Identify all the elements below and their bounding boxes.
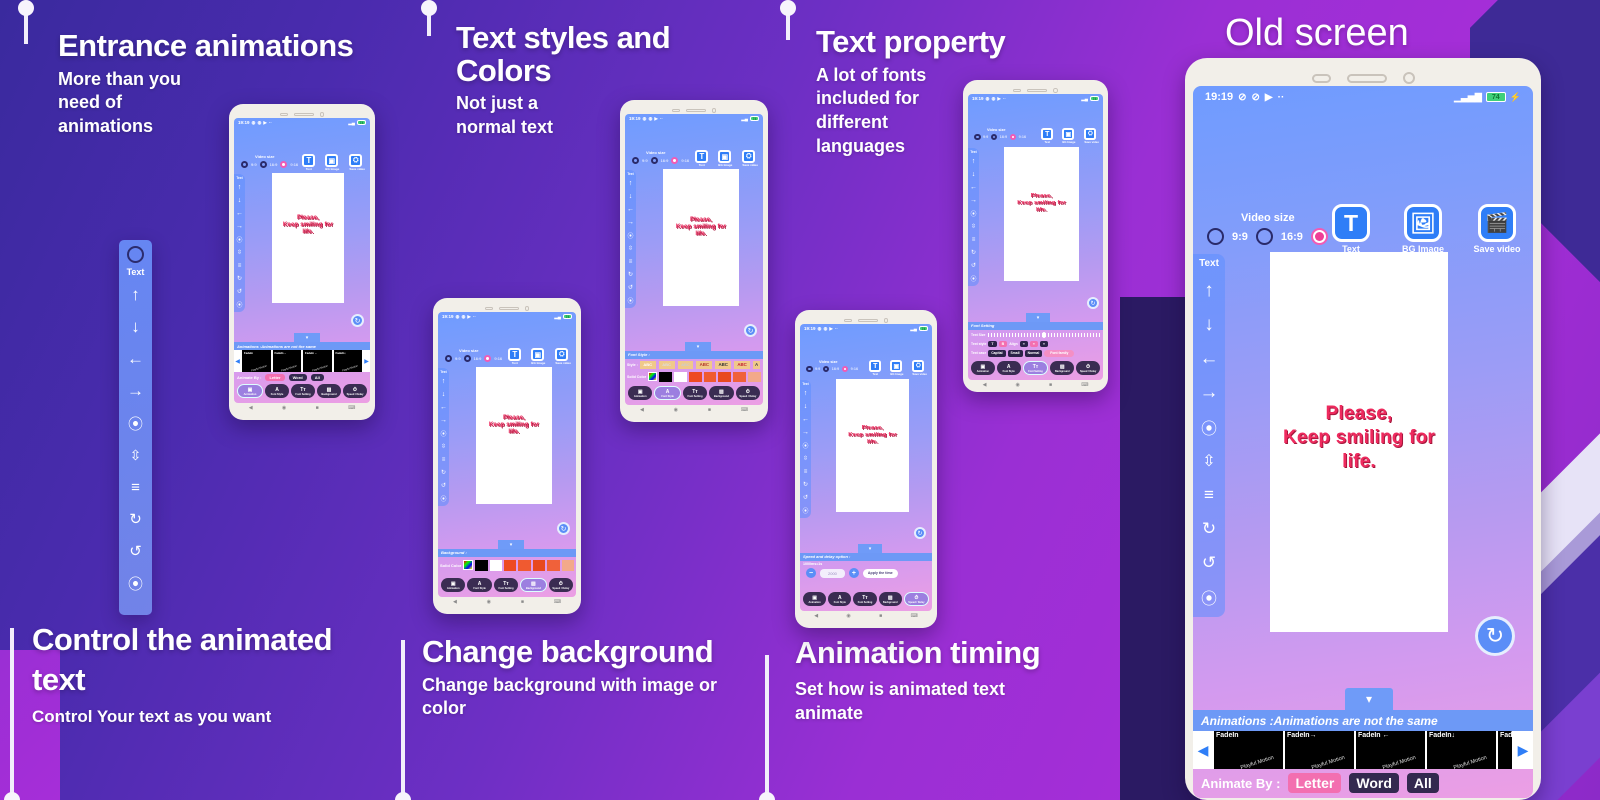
font-setting-panel[interactable]: Font Setting Text Size Text style T B Al…: [968, 322, 1103, 358]
back-icon[interactable]: ◀: [249, 405, 253, 411]
rotate-ccw-icon[interactable]: ↺: [1202, 549, 1216, 577]
arrow-up-icon[interactable]: ↑: [122, 281, 149, 309]
top-actions[interactable]: TText ▣BG Image ⛭Save video: [869, 360, 927, 376]
align-icon[interactable]: ≡: [1204, 481, 1214, 509]
style-sample[interactable]: A: [753, 361, 760, 369]
radio-16-9[interactable]: [1256, 228, 1273, 245]
text-icon[interactable]: T: [869, 360, 881, 372]
video-canvas[interactable]: Please, Keep smiling for life.: [836, 379, 909, 512]
align-icon[interactable]: ≡: [122, 473, 149, 501]
align-icon[interactable]: ≡: [238, 260, 242, 271]
text-tool-rail[interactable]: Text ↑ ↓ ← → ⦿ ⇳ ≡ ↻ ↺ ⦿: [438, 368, 449, 506]
feature-subtitle: A lot of fonts included for different la…: [816, 64, 941, 159]
case-normal[interactable]: Normal: [1025, 350, 1043, 357]
android-nav-bar[interactable]: ◀◉■⌨: [800, 611, 932, 620]
home-icon[interactable]: ◉: [1016, 382, 1020, 388]
video-canvas[interactable]: Please, Keep smiling for life.: [1270, 252, 1448, 632]
arrow-down-icon[interactable]: ↓: [629, 191, 633, 202]
recents-icon[interactable]: ■: [1049, 382, 1052, 388]
save-video-icon[interactable]: ⛭: [1084, 128, 1096, 140]
arrow-left-icon[interactable]: ←: [440, 402, 447, 413]
arrow-up-icon[interactable]: ↑: [629, 178, 633, 189]
video-size-group[interactable]: Video size 9:9 16:9 9:16: [632, 150, 689, 164]
phone-mock-entrance: 19:19◍◍▶·· ▂▄74 Video size 9:9 16:9 9:16…: [229, 104, 375, 420]
line-height-icon[interactable]: ⇳: [971, 221, 976, 232]
arrow-down-icon[interactable]: ↓: [972, 169, 976, 180]
radio-9-16[interactable]: [671, 157, 678, 164]
animation-item[interactable]: FadeIn→Playful Motion: [1285, 731, 1354, 769]
panel-handle[interactable]: ▾: [294, 333, 320, 342]
center-focus-icon[interactable]: ⦿: [1201, 413, 1217, 441]
no-sound-icon: ◍: [461, 314, 465, 320]
text-icon[interactable]: T: [508, 348, 521, 361]
rotate-ccw-icon[interactable]: ↺: [237, 286, 242, 297]
replay-icon[interactable]: ↻: [1087, 297, 1099, 309]
android-nav-bar[interactable]: ◀◉■⌨: [625, 405, 763, 414]
color-swatch[interactable]: [504, 560, 516, 571]
animation-item[interactable]: FadeIn↓Playful Motion: [1427, 731, 1496, 769]
text-tool-rail[interactable]: Text ↑ ↓ ← → ⦿ ⇳ ≡ ↻ ↺ ⦿: [625, 170, 636, 308]
home-icon[interactable]: ◉: [674, 407, 678, 413]
chevron-left-icon[interactable]: ◀: [1193, 731, 1213, 769]
tab-animation[interactable]: ▣Animation: [237, 384, 263, 398]
radio-16-9[interactable]: [651, 157, 658, 164]
style-sample[interactable]: ABC: [734, 361, 750, 369]
rotate-cw-icon[interactable]: ↻: [237, 273, 242, 284]
tab-background[interactable]: ▨Background: [520, 578, 546, 592]
panel-handle[interactable]: ▾: [858, 544, 882, 553]
image-icon[interactable]: 🖼: [1404, 204, 1442, 242]
line-height-icon[interactable]: ⇳: [1202, 447, 1215, 475]
text-tool-rail[interactable]: Text ↑ ↓ ← → ⦿ ⇳ ≡ ↻ ↺ ⦿: [1193, 254, 1225, 617]
phone-mock-font-style: 19:19◍◍▶·· ▂▄74 Video size 9:9 16:9 9:16…: [620, 100, 768, 422]
arrow-down-icon[interactable]: ↓: [238, 195, 242, 206]
animation-item[interactable]: FadeIn→Playful Motion: [273, 350, 302, 372]
tab-background[interactable]: ▨Background: [1050, 361, 1074, 375]
align-right-icon[interactable]: ≡: [1040, 341, 1048, 347]
arrow-up-icon[interactable]: ↑: [972, 156, 976, 167]
decrease-button[interactable]: −: [806, 568, 816, 578]
radio-9-9[interactable]: [632, 157, 639, 164]
center-focus-icon[interactable]: ⦿: [970, 208, 976, 219]
font-style-panel[interactable]: Font Style : Style : ABC ABC ABC ABC ABC…: [625, 351, 763, 383]
reset-focus-icon[interactable]: ⦿: [1201, 583, 1217, 611]
image-icon[interactable]: ▣: [890, 360, 902, 372]
increase-button[interactable]: +: [849, 568, 859, 578]
chevron-right-icon[interactable]: ▶: [363, 350, 370, 372]
time-value-input[interactable]: 2000: [820, 569, 845, 578]
standalone-text-toolbar[interactable]: Text ↑ ↓ ← → ⦿ ⇳ ≡ ↻ ↺ ⦿: [119, 240, 152, 615]
recents-icon[interactable]: ■: [521, 599, 524, 605]
animate-by-word[interactable]: Word: [1349, 773, 1399, 793]
rotate-ccw-icon[interactable]: ↺: [441, 480, 446, 491]
animate-by-letter[interactable]: Letter: [1288, 773, 1341, 793]
radio-16-9[interactable]: [464, 355, 471, 362]
arrow-right-icon[interactable]: →: [122, 377, 149, 405]
radio-9-16[interactable]: [280, 161, 287, 168]
keyboard-icon[interactable]: ⌨: [911, 613, 918, 619]
reset-focus-icon[interactable]: ⦿: [236, 299, 242, 310]
rotate-ccw-icon[interactable]: ↺: [971, 260, 976, 271]
save-video-icon[interactable]: ⛭: [742, 150, 755, 163]
top-actions[interactable]: T Text 🖼 BG Image 🎬 Save video: [1327, 204, 1523, 254]
radio-label: 16:9: [832, 367, 839, 371]
video-size-label: Video size: [445, 348, 502, 353]
text-tool-rail[interactable]: Text ↑ ↓ ← → ⦿ ⇳ ≡ ↻ ↺ ⦿: [800, 380, 811, 518]
tab-font-style[interactable]: AFont Style: [828, 592, 851, 606]
arrow-right-icon[interactable]: →: [236, 221, 243, 232]
back-icon[interactable]: ◀: [814, 613, 818, 619]
animations-strip[interactable]: ◀ FadeInPlayful Motion FadeIn→Playful Mo…: [234, 350, 370, 372]
radio-9-16[interactable]: [484, 355, 491, 362]
no-sound-icon: ◍: [648, 116, 652, 122]
color-swatch[interactable]: [689, 372, 702, 382]
italic-toggle[interactable]: B: [999, 341, 1008, 347]
arrow-left-icon[interactable]: ←: [1200, 345, 1219, 373]
radio-9-16[interactable]: [1010, 134, 1017, 141]
panel-handle[interactable]: ▾: [1345, 688, 1393, 710]
arrow-up-icon[interactable]: ↑: [442, 376, 446, 387]
style-sample[interactable]: ABC: [678, 361, 694, 369]
back-icon[interactable]: ◀: [453, 599, 457, 605]
radio-9-9[interactable]: [445, 355, 452, 362]
rotate-cw-icon[interactable]: ↻: [441, 467, 446, 478]
home-icon[interactable]: ◉: [282, 405, 286, 411]
replay-icon[interactable]: ↻: [914, 527, 926, 539]
text-size-slider[interactable]: [988, 333, 1100, 337]
line-height-icon[interactable]: ⇳: [122, 441, 149, 469]
canvas-text-line: life.: [836, 439, 909, 446]
center-focus-icon[interactable]: ⦿: [236, 234, 242, 245]
radio-9-9[interactable]: [806, 366, 813, 373]
animate-by-group[interactable]: Animate By : Letter Word All: [1193, 769, 1533, 797]
recents-icon[interactable]: ■: [316, 405, 319, 411]
feature-title: Animation timing: [795, 634, 1045, 673]
arrow-left-icon[interactable]: ←: [236, 208, 243, 219]
keyboard-icon[interactable]: ⌨: [1081, 382, 1088, 388]
tab-speed-delay[interactable]: ⏱Speed / Delay: [343, 384, 367, 398]
line-height-icon[interactable]: ⇳: [237, 247, 242, 258]
rotate-ccw-icon[interactable]: ↺: [628, 282, 633, 293]
status-time: 19:19: [629, 116, 641, 121]
radio-9-16[interactable]: [1311, 228, 1328, 245]
no-sound-icon: ⊘: [1252, 92, 1260, 103]
canvas-text: Please, Keep smiling for life.: [272, 215, 344, 236]
bottom-tabs[interactable]: ▣Animation AFont Style TтFont Setting ▨B…: [800, 591, 932, 607]
mute-icon: ◍: [456, 314, 460, 320]
center-focus-icon[interactable]: ⦿: [802, 440, 808, 451]
align-icon[interactable]: ≡: [442, 454, 446, 465]
tab-font-style[interactable]: AFont Style: [467, 578, 491, 592]
bottom-tabs[interactable]: ▣Animation AFont Style TтFont Setting ▨B…: [625, 385, 763, 401]
video-canvas[interactable]: Please, Keep smiling for life.: [272, 173, 344, 303]
video-size-group[interactable]: Video size 9:9 16:9 9:16: [974, 128, 1026, 140]
color-swatch[interactable]: [562, 560, 574, 571]
phone-mock-speed-delay: 19:19◍◍▶·· ▂▄74 Video size 9:9 16:9 9:16…: [795, 310, 937, 628]
reset-focus-icon[interactable]: ⦿: [802, 505, 808, 516]
color-swatch[interactable]: [674, 372, 687, 382]
radio-9-9[interactable]: [974, 134, 981, 141]
text-icon[interactable]: T: [1041, 128, 1053, 140]
charging-icon: ⚡: [1510, 92, 1521, 103]
color-swatch[interactable]: [718, 372, 731, 382]
animate-by-all[interactable]: All: [311, 374, 324, 381]
tab-background[interactable]: ▨Background: [709, 386, 733, 400]
keyboard-icon[interactable]: ⌨: [348, 405, 355, 411]
video-size-group[interactable]: Video size 9:9 16:9 9:16: [806, 360, 858, 372]
image-icon[interactable]: ▣: [718, 150, 731, 163]
radio-16-9[interactable]: [823, 366, 830, 373]
replay-icon[interactable]: ↻: [744, 324, 757, 337]
recents-icon[interactable]: ■: [708, 407, 711, 413]
back-icon[interactable]: ◀: [640, 407, 644, 413]
apply-time-button[interactable]: Apply the time: [863, 569, 898, 578]
style-sample[interactable]: ABC: [659, 361, 675, 369]
arrow-right-icon[interactable]: →: [627, 217, 634, 228]
tab-font-setting[interactable]: TтFont Setting: [683, 386, 707, 400]
rotate-cw-icon[interactable]: ↻: [122, 505, 149, 533]
more-icon: ··: [473, 314, 476, 319]
align-center-icon[interactable]: ≡: [1030, 341, 1038, 347]
save-video-icon[interactable]: ⛭: [349, 154, 362, 167]
save-video-icon[interactable]: ⛭: [555, 348, 568, 361]
panel-handle[interactable]: ▾: [498, 540, 524, 549]
animation-preview: Playful Motion: [312, 365, 328, 373]
style-sample[interactable]: ABC: [696, 361, 712, 369]
canvas-text-line: life.: [1270, 450, 1448, 474]
android-nav-bar[interactable]: ◀◉■⌨: [968, 380, 1103, 389]
arrow-right-icon[interactable]: →: [1200, 379, 1219, 407]
tab-background[interactable]: ▨Background: [317, 384, 341, 398]
radio-label: 9:9: [1232, 231, 1248, 243]
color-swatch[interactable]: [518, 560, 530, 571]
home-icon[interactable]: ◉: [487, 599, 491, 605]
top-actions[interactable]: TText ▣BG Image ⛭Save video: [508, 348, 571, 365]
arrow-down-icon[interactable]: ↓: [804, 401, 808, 412]
animation-item[interactable]: FadeIn ←Playful Motion: [1356, 731, 1425, 769]
tab-font-setting[interactable]: TтFont Setting: [853, 592, 876, 606]
canvas-text: Please, Keep smiling for life.: [476, 415, 552, 436]
video-size-group[interactable]: Video size 9:9 16:9 9:16: [241, 154, 298, 168]
tab-speed-delay[interactable]: ⏱Speed / Delay: [904, 592, 929, 606]
radio-9-9[interactable]: [241, 161, 248, 168]
arrow-down-icon[interactable]: ↓: [442, 389, 446, 400]
tab-animation[interactable]: ▣Animation: [441, 578, 465, 592]
color-swatch[interactable]: [659, 372, 672, 382]
arrow-up-icon[interactable]: ↑: [238, 182, 242, 193]
android-nav-bar[interactable]: ◀◉■⌨: [234, 403, 370, 412]
chevron-left-icon[interactable]: ◀: [234, 350, 241, 372]
video-canvas[interactable]: Please, Keep smiling for life.: [476, 367, 552, 504]
color-swatch[interactable]: [547, 560, 559, 571]
align-icon[interactable]: ≡: [972, 234, 976, 245]
radio-16-9[interactable]: [260, 161, 267, 168]
text-label: Text: [869, 372, 881, 376]
case-small[interactable]: Small: [1008, 350, 1023, 357]
align-left-icon[interactable]: ≡: [1020, 341, 1028, 347]
animation-item[interactable]: FadeInPlayful Motion: [242, 350, 271, 372]
tab-animation[interactable]: ▣Animation: [628, 386, 652, 400]
arrow-left-icon[interactable]: ←: [970, 182, 977, 193]
line-height-icon[interactable]: ⇳: [803, 453, 808, 464]
animate-by-word[interactable]: Word: [289, 374, 307, 381]
tab-font-style[interactable]: AFont Style: [997, 361, 1021, 375]
arrow-right-icon[interactable]: →: [802, 427, 809, 438]
back-icon[interactable]: ◀: [983, 382, 987, 388]
bottom-tabs[interactable]: ▣Animation AFont Style TтFont Setting ▨B…: [234, 383, 370, 399]
arrow-down-icon[interactable]: ↓: [122, 313, 149, 341]
reset-focus-icon[interactable]: ⦿: [122, 569, 149, 597]
rotate-ccw-icon[interactable]: ↺: [122, 537, 149, 565]
arrow-right-icon[interactable]: →: [970, 195, 977, 206]
center-focus-icon[interactable]: ⦿: [440, 428, 446, 439]
canvas-text-line: Please,: [1270, 402, 1448, 426]
video-size-group[interactable]: Video size 9:9 16:9 9:16: [445, 348, 502, 362]
rotate-cw-icon[interactable]: ↻: [628, 269, 633, 280]
style-sample[interactable]: ABC: [715, 361, 731, 369]
video-canvas[interactable]: Please, Keep smiling for life.: [1004, 147, 1079, 281]
animate-by-label: Animate By :: [1201, 776, 1280, 791]
animation-item[interactable]: FadeIn↓Playful Motion: [334, 350, 363, 372]
background-panel[interactable]: Background : Solid Color: [438, 549, 576, 573]
color-swatch[interactable]: [748, 372, 761, 382]
text-tool-rail[interactable]: Text ↑ ↓ ← → ⦿ ⇳ ≡ ↻ ↺ ⦿: [234, 174, 245, 312]
more-icon: ··: [269, 120, 272, 125]
arrow-left-icon[interactable]: ←: [627, 204, 634, 215]
keyboard-icon[interactable]: ⌨: [554, 599, 561, 605]
tab-animation[interactable]: ▣Animation: [971, 361, 995, 375]
image-icon[interactable]: ▣: [325, 154, 338, 167]
color-swatch[interactable]: [533, 560, 545, 571]
font-family-button[interactable]: Font family: [1044, 350, 1074, 357]
canvas-text: Please, Keep smiling for life.: [1004, 193, 1079, 213]
speed-panel-title: Speed and delay option :: [800, 553, 932, 561]
animation-name: FadeIn↑: [1500, 732, 1526, 739]
color-swatch[interactable]: [490, 560, 502, 571]
case-capital[interactable]: Capital: [988, 350, 1005, 357]
bottom-tabs[interactable]: ▣Animation AFont Style TтFont Setting ▨B…: [968, 360, 1103, 376]
tab-background[interactable]: ▨Background: [879, 592, 902, 606]
animation-name: FadeIn: [1216, 732, 1239, 739]
animate-by-group[interactable]: Animate By : Letter Word All: [234, 373, 370, 382]
arrow-up-icon[interactable]: ↑: [1204, 277, 1214, 305]
animation-item[interactable]: FadeInPlayful Motion: [1214, 731, 1283, 769]
rotate-cw-icon[interactable]: ↻: [1202, 515, 1216, 543]
top-actions[interactable]: TText ▣BG Image ⛭Save video: [695, 150, 758, 167]
radio-label: 16:9: [661, 158, 669, 163]
video-canvas[interactable]: Please, Keep smiling for life.: [663, 169, 739, 306]
slider-thumb[interactable]: [1042, 332, 1046, 338]
center-focus-icon[interactable]: ⦿: [122, 409, 149, 437]
rotate-cw-icon[interactable]: ↻: [971, 247, 976, 258]
text-icon[interactable]: T: [302, 154, 315, 167]
image-icon[interactable]: ▣: [1062, 128, 1074, 140]
android-nav-bar[interactable]: ◀◉■⌨: [438, 597, 576, 606]
bottom-tabs[interactable]: ▣Animation AFont Style TтFont Setting ▨B…: [438, 577, 576, 593]
text-icon[interactable]: T: [695, 150, 708, 163]
radio-label: 9:16: [290, 162, 298, 167]
arrow-up-icon[interactable]: ↑: [804, 388, 808, 399]
tab-font-setting[interactable]: TтFont Setting: [1023, 361, 1049, 375]
radio-9-16[interactable]: [842, 366, 849, 373]
style-sample[interactable]: ABC: [640, 361, 656, 369]
align-icon[interactable]: ≡: [804, 466, 808, 477]
panel-handle[interactable]: ▾: [1026, 313, 1050, 322]
rotate-ccw-icon[interactable]: ↺: [803, 492, 808, 503]
align-icon[interactable]: ≡: [629, 256, 633, 267]
animation-item[interactable]: FadeIn ←Playful Motion: [303, 350, 332, 372]
color-picker-icon[interactable]: [463, 560, 473, 570]
canvas-text-line: Keep smiling for: [1004, 200, 1079, 207]
align-label: Align: [1009, 342, 1017, 346]
save-video-icon[interactable]: 🎬: [1478, 204, 1516, 242]
reset-focus-icon[interactable]: ⦿: [970, 273, 976, 284]
replay-icon[interactable]: ↻: [351, 314, 364, 327]
arrow-left-icon[interactable]: ←: [802, 414, 809, 425]
replay-icon[interactable]: ↻: [1475, 616, 1515, 656]
color-circle-icon[interactable]: [127, 246, 144, 263]
arrow-right-icon[interactable]: →: [440, 415, 447, 426]
tab-speed-delay[interactable]: ⏱Speed / Delay: [736, 386, 760, 400]
pin-line-1: [24, 8, 28, 44]
color-picker-icon[interactable]: [648, 372, 657, 381]
tab-font-style[interactable]: AFont Style: [654, 386, 680, 400]
home-icon[interactable]: ◉: [846, 613, 850, 619]
center-focus-icon[interactable]: ⦿: [627, 230, 633, 241]
animations-strip[interactable]: ◀ FadeInPlayful Motion FadeIn→Playful Mo…: [1193, 731, 1533, 769]
tab-font-style[interactable]: AFont Style: [265, 384, 289, 398]
color-swatch[interactable]: [704, 372, 717, 382]
animate-by-letter[interactable]: Letter: [265, 374, 284, 381]
tab-animation[interactable]: ▣Animation: [803, 592, 826, 606]
recents-icon[interactable]: ■: [879, 613, 882, 619]
feature-subtitle: Set how is animated text animate: [795, 678, 1040, 726]
signal-icon: ▂▄: [1081, 96, 1088, 102]
speed-delay-panel[interactable]: Speed and delay option : 1000ms=1s − 200…: [800, 553, 932, 579]
text-label: Text: [508, 361, 521, 365]
tab-speed-delay[interactable]: ⏱Speed / Delay: [1076, 361, 1100, 375]
animation-item[interactable]: FadeIn↑: [1498, 731, 1512, 769]
image-icon[interactable]: ▣: [531, 348, 544, 361]
keyboard-icon[interactable]: ⌨: [741, 407, 748, 413]
arrow-left-icon[interactable]: ←: [122, 345, 149, 373]
arrow-down-icon[interactable]: ↓: [1204, 311, 1214, 339]
tab-speed-delay[interactable]: ⏱Speed / Delay: [549, 578, 573, 592]
line-height-icon[interactable]: ⇳: [441, 441, 446, 452]
radio-9-9[interactable]: [1207, 228, 1224, 245]
top-actions[interactable]: TText ▣BG Image ⛭Save video: [1041, 128, 1099, 144]
text-icon[interactable]: T: [1332, 204, 1370, 242]
tab-font-setting[interactable]: TтFont Setting: [494, 578, 518, 592]
canvas-text-line: Keep smiling for: [476, 422, 552, 429]
rotate-cw-icon[interactable]: ↻: [803, 479, 808, 490]
replay-icon[interactable]: ↻: [557, 522, 570, 535]
top-actions[interactable]: TText ▣BG Image ⛭Save video: [302, 154, 365, 171]
animate-by-all[interactable]: All: [1407, 773, 1439, 793]
reset-focus-icon[interactable]: ⦿: [440, 493, 446, 504]
radio-16-9[interactable]: [991, 134, 998, 141]
line-height-icon[interactable]: ⇳: [628, 243, 633, 254]
text-tool-rail[interactable]: Text ↑ ↓ ← → ⦿ ⇳ ≡ ↻ ↺ ⦿: [968, 148, 979, 286]
reset-focus-icon[interactable]: ⦿: [627, 295, 633, 306]
panel-handle[interactable]: ▾: [685, 342, 711, 351]
bold-toggle[interactable]: T: [988, 341, 996, 347]
tab-font-setting[interactable]: TтFont Setting: [291, 384, 315, 398]
animation-name: FadeIn→: [275, 351, 287, 355]
save-video-icon[interactable]: ⛭: [912, 360, 924, 372]
color-swatch[interactable]: [733, 372, 746, 382]
color-swatch[interactable]: [475, 560, 487, 571]
